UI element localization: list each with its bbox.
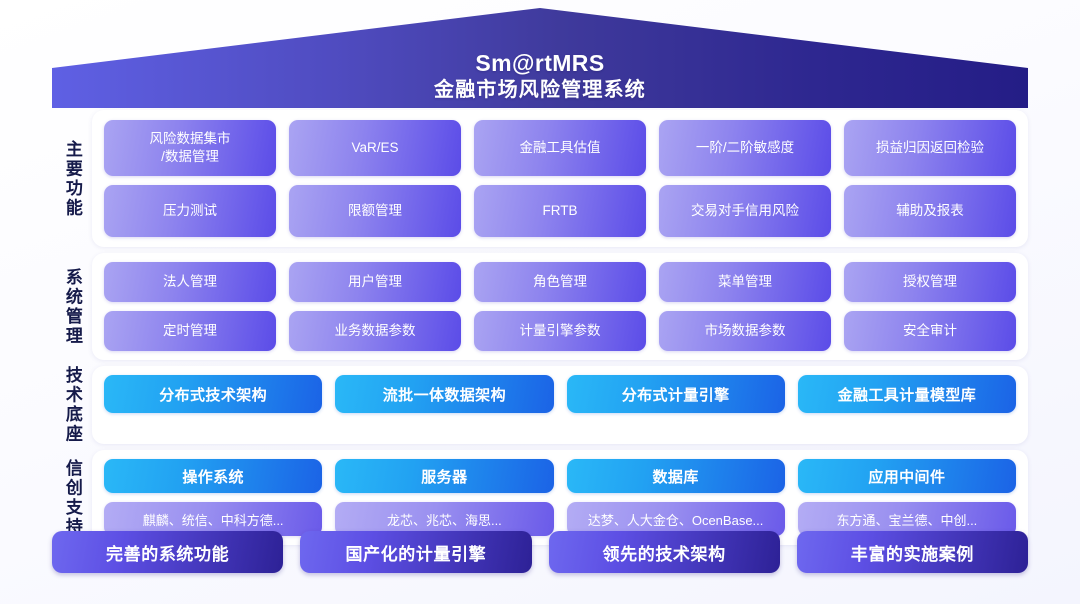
roof-shape xyxy=(52,8,1028,108)
feature-card[interactable]: 法人管理 xyxy=(104,262,276,302)
feature-card-label: 业务数据参数 xyxy=(335,322,416,340)
feature-card[interactable]: 定时管理 xyxy=(104,311,276,351)
roof-header: Sm@rtMRS 金融市场风险管理系统 xyxy=(52,8,1028,108)
card-row: 压力测试 限额管理 FRTB 交易对手信用风险 辅助及报表 xyxy=(104,185,1016,237)
feature-card[interactable]: 损益归因返回检验 xyxy=(844,120,1016,176)
card-row: 分布式技术架构 流批一体数据架构 分布式计量引擎 金融工具计量模型库 xyxy=(104,375,1016,413)
feature-card[interactable]: 辅助及报表 xyxy=(844,185,1016,237)
section-label-text: 系统管理 xyxy=(63,268,81,346)
feature-card[interactable]: 风险数据集市 /数据管理 xyxy=(104,120,276,176)
highlight-card-label: 国产化的计量引擎 xyxy=(345,540,486,565)
feature-card-label: 金融工具估值 xyxy=(520,139,601,157)
feature-card[interactable]: 授权管理 xyxy=(844,262,1016,302)
feature-card[interactable]: 一阶/二阶敏感度 xyxy=(659,120,831,176)
feature-card-label: FRTB xyxy=(542,202,577,220)
platform-card-label: 应用中间件 xyxy=(868,466,945,487)
feature-card[interactable]: 业务数据参数 xyxy=(289,311,461,351)
feature-card-label: VaR/ES xyxy=(351,139,398,157)
feature-card[interactable]: 交易对手信用风险 xyxy=(659,185,831,237)
tech-card-label: 分布式技术架构 xyxy=(159,384,267,405)
section-label-text: 主要功能 xyxy=(63,140,81,218)
feature-card-label: 授权管理 xyxy=(903,273,957,291)
section-label-text: 技术底座 xyxy=(63,366,81,444)
section-system-management: 系统管理 法人管理 用户管理 角色管理 菜单管理 授权管理 定时管理 业务数据参… xyxy=(52,253,1028,360)
tech-card-label: 流批一体数据架构 xyxy=(383,384,506,405)
highlight-card-label: 完善的系统功能 xyxy=(106,540,229,565)
section-label-system-management: 系统管理 xyxy=(52,253,92,360)
feature-card[interactable]: 菜单管理 xyxy=(659,262,831,302)
feature-card-label: 市场数据参数 xyxy=(705,322,786,340)
tech-card-label: 分布式计量引擎 xyxy=(622,384,730,405)
feature-card[interactable]: 计量引擎参数 xyxy=(474,311,646,351)
feature-card-label: 用户管理 xyxy=(348,273,402,291)
platform-card[interactable]: 应用中间件 xyxy=(798,459,1016,493)
highlight-banner: 完善的系统功能 国产化的计量引擎 领先的技术架构 丰富的实施案例 xyxy=(52,531,1028,573)
feature-card[interactable]: 用户管理 xyxy=(289,262,461,302)
tech-card[interactable]: 分布式计量引擎 xyxy=(567,375,785,413)
vendor-card-label: 达梦、人大金仓、OcenBase... xyxy=(588,510,764,529)
infographic-root: Sm@rtMRS 金融市场风险管理系统 主要功能 风险数据集市 /数据管理 Va… xyxy=(0,0,1080,604)
highlight-card[interactable]: 领先的技术架构 xyxy=(549,531,780,573)
vendor-card-label: 东方通、宝兰德、中创... xyxy=(836,510,977,529)
feature-card[interactable]: 压力测试 xyxy=(104,185,276,237)
panel-tech-foundation: 分布式技术架构 流批一体数据架构 分布式计量引擎 金融工具计量模型库 xyxy=(92,366,1028,444)
feature-card[interactable]: 安全审计 xyxy=(844,311,1016,351)
feature-card[interactable]: VaR/ES xyxy=(289,120,461,176)
feature-card-label: 限额管理 xyxy=(348,202,402,220)
card-row: 操作系统 服务器 数据库 应用中间件 xyxy=(104,459,1016,493)
feature-card-label: 辅助及报表 xyxy=(896,202,964,220)
platform-card[interactable]: 服务器 xyxy=(335,459,553,493)
feature-card-label: 计量引擎参数 xyxy=(520,322,601,340)
feature-card-label: 损益归因返回检验 xyxy=(876,139,984,157)
highlight-card[interactable]: 丰富的实施案例 xyxy=(797,531,1028,573)
feature-card-label: 风险数据集市 /数据管理 xyxy=(150,130,231,166)
platform-card-label: 数据库 xyxy=(653,466,699,487)
feature-card-label: 法人管理 xyxy=(163,273,217,291)
panel-main-functions: 风险数据集市 /数据管理 VaR/ES 金融工具估值 一阶/二阶敏感度 损益归因… xyxy=(92,110,1028,247)
tech-card[interactable]: 分布式技术架构 xyxy=(104,375,322,413)
feature-card-label: 菜单管理 xyxy=(718,273,772,291)
highlight-card-label: 丰富的实施案例 xyxy=(851,540,974,565)
feature-card-label: 一阶/二阶敏感度 xyxy=(696,139,794,157)
section-stack: 主要功能 风险数据集市 /数据管理 VaR/ES 金融工具估值 一阶/二阶敏感度… xyxy=(52,110,1028,545)
section-tech-foundation: 技术底座 分布式技术架构 流批一体数据架构 分布式计量引擎 金融工具计量模型库 xyxy=(52,366,1028,444)
platform-card-label: 操作系统 xyxy=(182,466,244,487)
feature-card[interactable]: FRTB xyxy=(474,185,646,237)
section-label-tech-foundation: 技术底座 xyxy=(52,366,92,444)
section-main-functions: 主要功能 风险数据集市 /数据管理 VaR/ES 金融工具估值 一阶/二阶敏感度… xyxy=(52,110,1028,247)
section-label-text: 信创支持 xyxy=(63,459,81,537)
vendor-card-label: 龙芯、兆芯、海思... xyxy=(387,510,502,529)
highlight-card[interactable]: 完善的系统功能 xyxy=(52,531,283,573)
feature-card[interactable]: 角色管理 xyxy=(474,262,646,302)
highlight-card-label: 领先的技术架构 xyxy=(603,540,726,565)
feature-card-label: 交易对手信用风险 xyxy=(691,202,799,220)
feature-card-label: 压力测试 xyxy=(163,202,217,220)
tech-card[interactable]: 流批一体数据架构 xyxy=(335,375,553,413)
platform-card-label: 服务器 xyxy=(421,466,467,487)
highlight-card[interactable]: 国产化的计量引擎 xyxy=(300,531,531,573)
tech-card[interactable]: 金融工具计量模型库 xyxy=(798,375,1016,413)
platform-card[interactable]: 数据库 xyxy=(567,459,785,493)
panel-system-management: 法人管理 用户管理 角色管理 菜单管理 授权管理 定时管理 业务数据参数 计量引… xyxy=(92,253,1028,360)
feature-card[interactable]: 金融工具估值 xyxy=(474,120,646,176)
vendor-card-label: 麒麟、统信、中科方德... xyxy=(143,510,284,529)
card-row: 风险数据集市 /数据管理 VaR/ES 金融工具估值 一阶/二阶敏感度 损益归因… xyxy=(104,120,1016,176)
card-row: 法人管理 用户管理 角色管理 菜单管理 授权管理 xyxy=(104,262,1016,302)
platform-card[interactable]: 操作系统 xyxy=(104,459,322,493)
tech-card-label: 金融工具计量模型库 xyxy=(838,384,977,405)
feature-card-label: 安全审计 xyxy=(903,322,957,340)
feature-card-label: 定时管理 xyxy=(163,322,217,340)
feature-card[interactable]: 市场数据参数 xyxy=(659,311,831,351)
card-row: 定时管理 业务数据参数 计量引擎参数 市场数据参数 安全审计 xyxy=(104,311,1016,351)
feature-card-label: 角色管理 xyxy=(533,273,587,291)
feature-card[interactable]: 限额管理 xyxy=(289,185,461,237)
section-label-main-functions: 主要功能 xyxy=(52,110,92,247)
